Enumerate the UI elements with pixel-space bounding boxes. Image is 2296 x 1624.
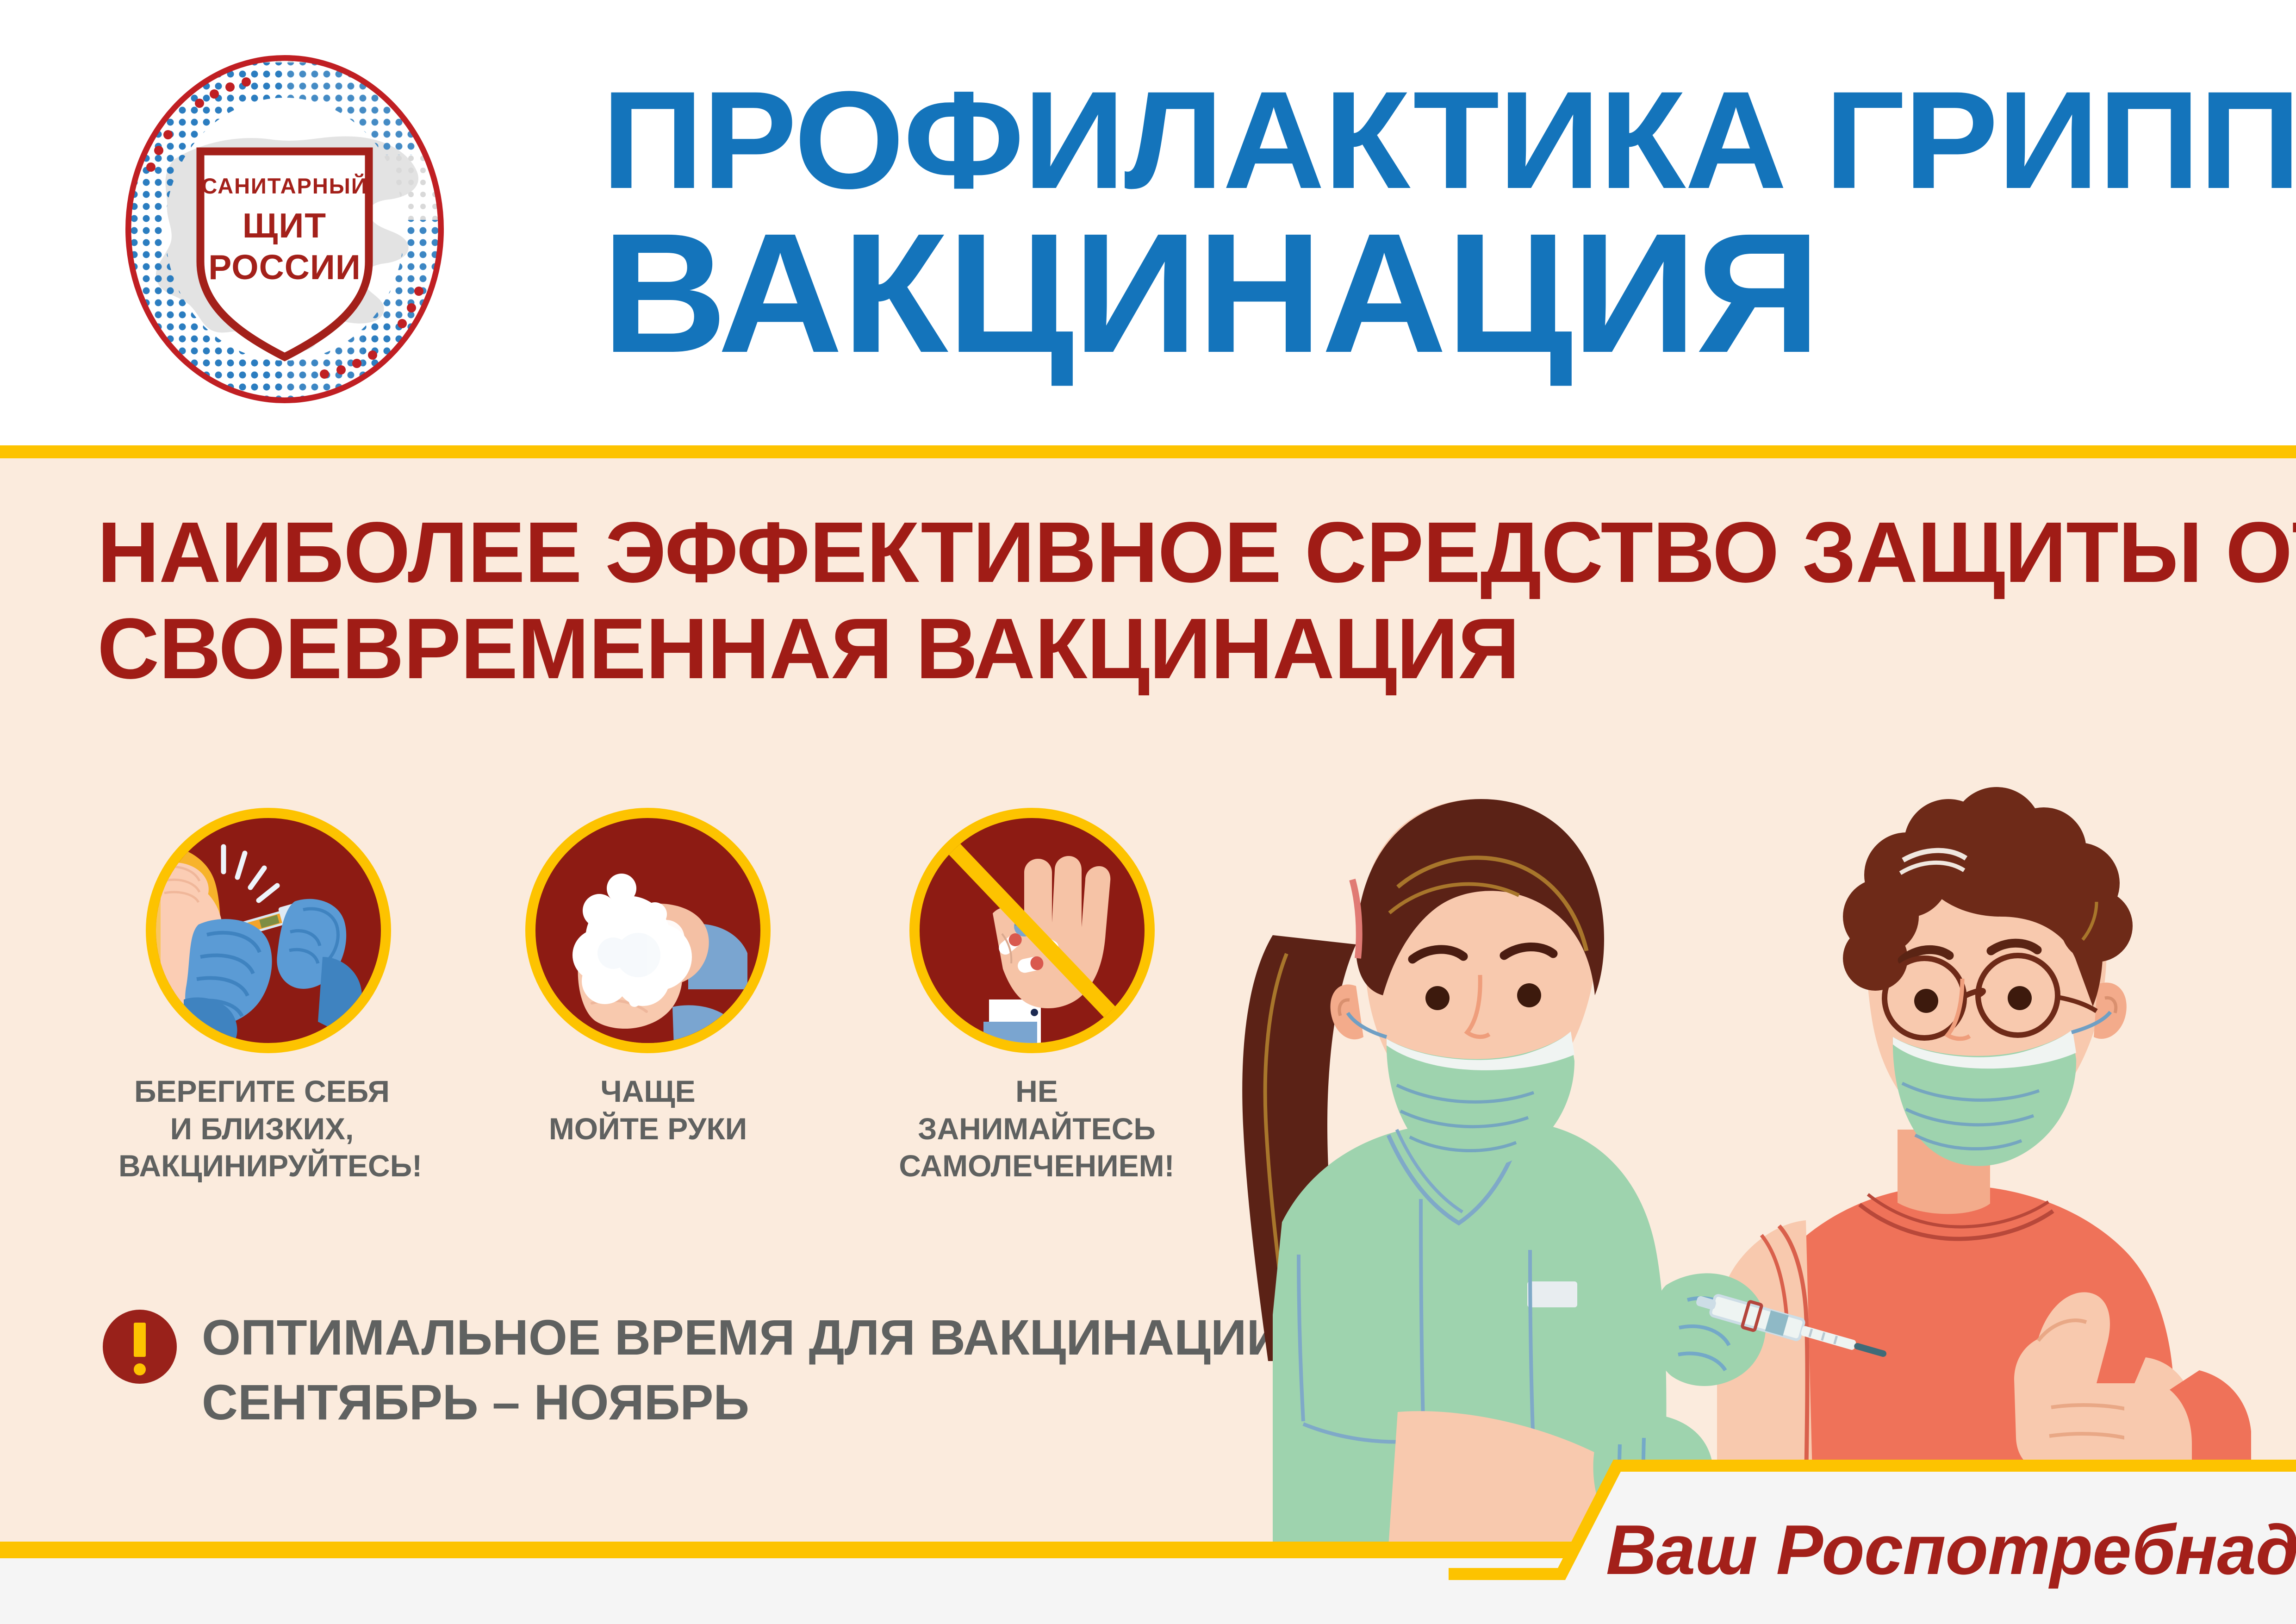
header-divider-rule [0, 445, 2296, 458]
advice-caption-handwashing: ЧАЩЕ МОЙТЕ РУКИ [504, 1073, 791, 1147]
poster-root: САНИТАРНЫЙ ЩИТ РОССИИ ПРОФИЛАКТИКА ГРИПП… [0, 0, 2296, 1624]
subtitle-line-2: СВОЕВРЕМЕННАЯ ВАКЦИНАЦИЯ [97, 601, 2134, 697]
exclamation-mark-icon [103, 1310, 177, 1384]
page-title: ПРОФИЛАКТИКА ГРИППА – ВАКЦИНАЦИЯ [602, 25, 2184, 424]
advice-caption-vaccination: БЕРЕГИТЕ СЕБЯ И БЛИЗКИХ, ВАКЦИНИРУЙТЕСЬ! [118, 1073, 405, 1185]
nurse-vaccinating-patient-illustration [1203, 759, 2296, 1546]
footer-banner: Ваш Роспотребнадзор [1449, 1444, 2296, 1624]
advice-icon-row: БЕРЕГИТЕ СЕБЯ И БЛИЗКИХ, ВАКЦИНИРУЙТЕСЬ! [125, 808, 1245, 1224]
sanitary-shield-of-russia-emblem: САНИТАРНЫЙ ЩИТ РОССИИ [104, 44, 465, 414]
optimal-time-alert: ОПТИМАЛЬНОЕ ВРЕМЯ ДЛЯ ВАКЦИНАЦИИ – СЕНТЯ… [103, 1303, 1324, 1435]
advice-item-handwashing: ЧАЩЕ МОЙТЕ РУКИ [504, 808, 791, 1147]
logo-line3: РОССИИ [208, 248, 361, 287]
subtitle-line-1: НАИБОЛЕЕ ЭФФЕКТИВНОЕ СРЕДСТВО ЗАЩИТЫ ОТ … [97, 505, 2134, 601]
no-self-medication-icon [909, 808, 1155, 1053]
logo-line1: САНИТАРНЫЙ [201, 174, 367, 198]
handwashing-soap-icon [525, 808, 771, 1053]
title-line-2: ВАКЦИНАЦИЯ [602, 209, 2216, 377]
optimal-time-alert-text: ОПТИМАЛЬНОЕ ВРЕМЯ ДЛЯ ВАКЦИНАЦИИ – СЕНТЯ… [202, 1303, 1324, 1435]
advice-item-no-self-medication: НЕ ЗАНИМАЙТЕСЬ САМОЛЕЧЕНИЕМ! [889, 808, 1176, 1185]
advice-caption-no-self-medication: НЕ ЗАНИМАЙТЕСЬ САМОЛЕЧЕНИЕМ! [893, 1073, 1180, 1185]
title-line-1: ПРОФИЛАКТИКА ГРИППА – [602, 71, 2216, 209]
subtitle-block: НАИБОЛЕЕ ЭФФЕКТИВНОЕ СРЕДСТВО ЗАЩИТЫ ОТ … [97, 505, 2134, 698]
logo-line2: ЩИТ [243, 206, 327, 245]
poster-header: САНИТАРНЫЙ ЩИТ РОССИИ ПРОФИЛАКТИКА ГРИПП… [0, 0, 2296, 445]
vaccination-injection-icon [146, 808, 391, 1053]
advice-item-vaccination: БЕРЕГИТЕ СЕБЯ И БЛИЗКИХ, ВАКЦИНИРУЙТЕСЬ! [125, 808, 412, 1185]
footer-organization-label: Ваш Роспотребнадзор [1606, 1515, 2296, 1585]
